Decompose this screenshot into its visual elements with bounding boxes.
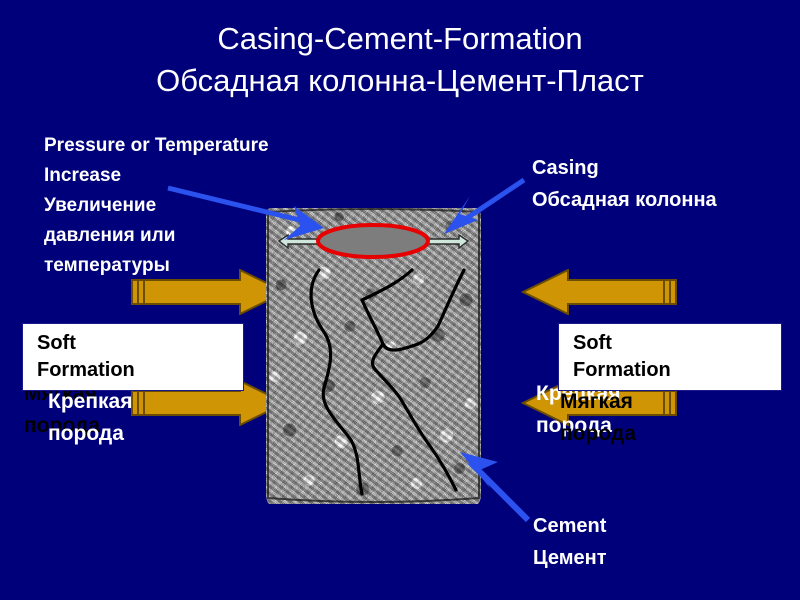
cement-label-ru: Цемент (533, 542, 607, 574)
caption-left-light-line-2: порода (48, 418, 132, 450)
callout-left-line-1: Soft (37, 330, 233, 357)
caption-right-soft-formation-ru: Мягкая порода (560, 386, 636, 450)
casing-label-en: Casing (532, 152, 717, 184)
formation-vectors (266, 208, 481, 504)
stress-arrow-right (426, 235, 468, 248)
title-line-en: Casing-Cement-Formation (0, 18, 800, 60)
pressure-line-1: Pressure or Temperature (44, 131, 269, 161)
casing-label-ru: Обсадная колонна (532, 184, 717, 216)
callout-soft-formation-right: Soft Formation (558, 323, 782, 391)
caption-right-dark-line-2: порода (560, 418, 636, 450)
pressure-line-2: Increase (44, 161, 269, 191)
gold-arrow-right-upper (520, 269, 680, 315)
casing-ellipse (318, 225, 428, 257)
formation-core-sample (266, 208, 481, 504)
callout-left-line-2: Formation (37, 357, 233, 384)
caption-left-hard-formation-ru: Крепкая порода (48, 386, 132, 450)
callout-soft-formation-left: Soft Formation (22, 323, 244, 391)
callout-right-line-2: Formation (573, 357, 771, 384)
crack-group (311, 270, 464, 494)
cement-label-en: Cement (533, 510, 607, 542)
pressure-line-4: давления или (44, 221, 269, 251)
pressure-line-5: температуры (44, 251, 269, 281)
casing-label: Casing Обсадная колонна (532, 152, 717, 216)
pressure-line-3: Увеличение (44, 191, 269, 221)
cement-label: Cement Цемент (533, 510, 607, 574)
stress-arrow-left (279, 235, 321, 248)
slide-canvas: Casing-Cement-Formation Обсадная колонна… (0, 0, 800, 600)
title-line-ru: Обсадная колонна-Цемент-Пласт (0, 60, 800, 102)
page-title: Casing-Cement-Formation Обсадная колонна… (0, 18, 800, 102)
pressure-temperature-label: Pressure or Temperature Increase Увеличе… (44, 131, 269, 281)
callout-right-line-1: Soft (573, 330, 771, 357)
